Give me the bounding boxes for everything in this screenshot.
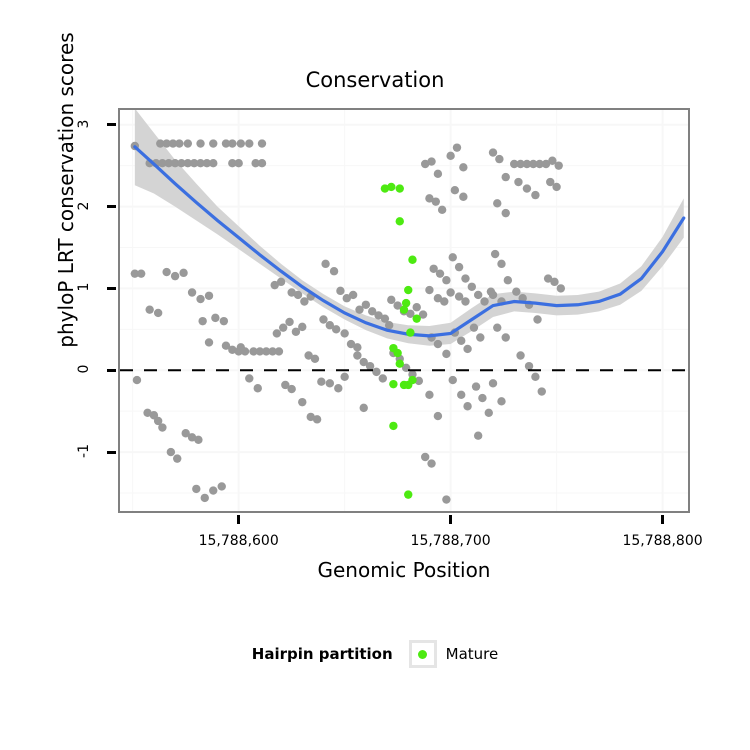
conservation-scatter-plot: Conservation phyloP LRT conservation sco…: [0, 0, 750, 750]
plot-canvas: [120, 110, 688, 511]
y-tick-label: 1: [76, 267, 92, 307]
legend-dot-icon: [418, 650, 427, 659]
y-tick-mark: [107, 369, 116, 372]
x-axis-label: Genomic Position: [118, 558, 690, 582]
y-tick-label: 3: [76, 104, 92, 144]
legend-label-mature: Mature: [446, 645, 499, 663]
legend-key-mature[interactable]: [409, 640, 437, 668]
legend-title: Hairpin partition: [252, 645, 393, 663]
x-tick-label: 15,788,800: [588, 533, 738, 549]
y-tick-mark: [107, 451, 116, 454]
x-tick-label: 15,788,600: [164, 533, 314, 549]
plot-panel: [118, 108, 690, 513]
legend: Hairpin partition Mature: [0, 640, 750, 668]
y-tick-label: 0: [76, 349, 92, 389]
y-tick-mark: [107, 205, 116, 208]
x-tick-mark: [449, 515, 452, 524]
x-tick-mark: [661, 515, 664, 524]
x-tick-mark: [237, 515, 240, 524]
y-axis-label: phyloP LRT conservation scores: [54, 0, 78, 390]
y-tick-mark: [107, 287, 116, 290]
y-tick-label: 2: [76, 186, 92, 226]
x-tick-label: 15,788,700: [376, 533, 526, 549]
y-tick-mark: [107, 123, 116, 126]
page-title: Conservation: [0, 68, 750, 92]
y-tick-label: -1: [76, 431, 92, 471]
